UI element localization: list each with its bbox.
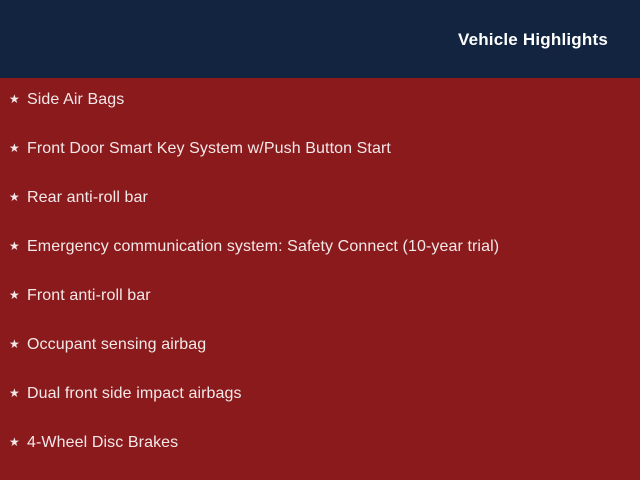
slide-header: Vehicle Highlights: [0, 0, 640, 78]
list-item: ★ Side Air Bags: [0, 89, 640, 138]
page-title: Vehicle Highlights: [458, 31, 608, 48]
star-bullet-icon: ★: [9, 383, 27, 404]
list-item: ★ Dual front side impact airbags: [0, 383, 640, 432]
vehicle-highlights-slide: Vehicle Highlights ★ Side Air Bags ★ Fro…: [0, 0, 640, 480]
star-bullet-icon: ★: [9, 236, 27, 257]
list-item-label: Emergency communication system: Safety C…: [27, 236, 499, 257]
list-item-label: Front Door Smart Key System w/Push Butto…: [27, 138, 391, 159]
list-item-label: Occupant sensing airbag: [27, 334, 206, 355]
star-bullet-icon: ★: [9, 89, 27, 110]
star-bullet-icon: ★: [9, 432, 27, 453]
list-item-label: Front anti-roll bar: [27, 285, 151, 306]
star-bullet-icon: ★: [9, 138, 27, 159]
list-item: ★ Front anti-roll bar: [0, 285, 640, 334]
list-item: ★ Rear anti-roll bar: [0, 187, 640, 236]
list-item: ★ 4-Wheel Disc Brakes: [0, 432, 640, 480]
list-item-label: Side Air Bags: [27, 89, 124, 110]
list-item-label: Dual front side impact airbags: [27, 383, 242, 404]
star-bullet-icon: ★: [9, 334, 27, 355]
list-item: ★ Emergency communication system: Safety…: [0, 236, 640, 285]
vehicle-highlights-list: ★ Side Air Bags ★ Front Door Smart Key S…: [0, 89, 640, 480]
star-bullet-icon: ★: [9, 285, 27, 306]
list-item: ★ Front Door Smart Key System w/Push But…: [0, 138, 640, 187]
list-item-label: Rear anti-roll bar: [27, 187, 148, 208]
list-item-label: 4-Wheel Disc Brakes: [27, 432, 178, 453]
star-bullet-icon: ★: [9, 187, 27, 208]
highlights-panel: ★ Side Air Bags ★ Front Door Smart Key S…: [0, 78, 640, 480]
list-item: ★ Occupant sensing airbag: [0, 334, 640, 383]
